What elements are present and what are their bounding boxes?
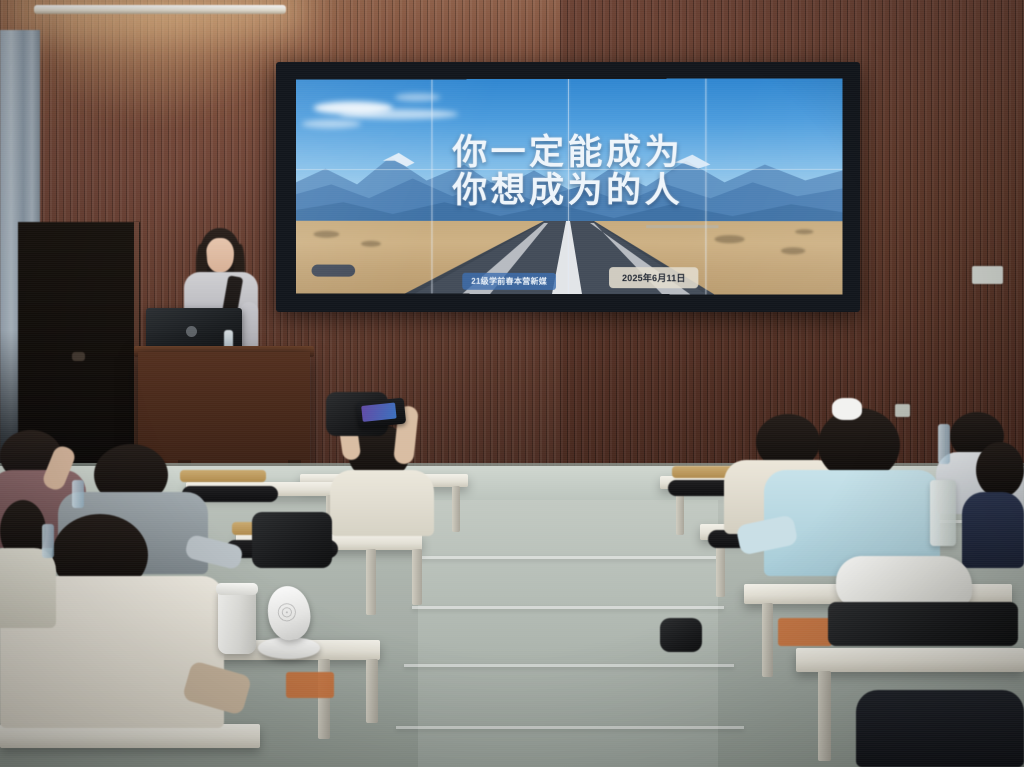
folded-jacket — [836, 556, 972, 608]
laptop-logo — [186, 326, 197, 337]
chair — [286, 672, 334, 698]
aisle-step — [396, 726, 744, 729]
cloud — [339, 109, 458, 119]
dark-bag — [660, 618, 702, 652]
slide-road — [296, 221, 843, 295]
wall-switch-plate — [972, 266, 1003, 284]
door-handle — [72, 352, 85, 361]
desk-leg — [452, 486, 460, 532]
desk-leg — [412, 549, 422, 605]
panel-seam-vertical — [431, 79, 432, 293]
fan-grill — [276, 599, 298, 626]
dark-bag — [828, 602, 1018, 646]
smartphone — [356, 398, 406, 429]
chair-seat — [180, 470, 266, 482]
ceiling-light-strip — [34, 5, 286, 14]
cup-lid — [216, 583, 258, 595]
water-bottle — [938, 424, 950, 464]
slide-badge-class: 21级学前春本营新媒 — [462, 273, 556, 290]
desk-leg — [762, 603, 773, 677]
aisle-step — [404, 664, 734, 667]
phone-screen — [361, 402, 396, 421]
desk-leg — [366, 549, 376, 615]
lecture-hall-photo: 你一定能成为 你想成为的人 21级学前春本营新媒 2025年6月11日 — [0, 0, 1024, 767]
water-bottle — [72, 480, 84, 508]
cloud — [395, 93, 441, 101]
student-torso — [962, 492, 1024, 568]
panel-seam-horizontal — [296, 169, 843, 170]
aisle-step — [418, 556, 718, 559]
video-wall-display: 你一定能成为 你想成为的人 21级学前春本营新媒 2025年6月11日 — [276, 62, 860, 312]
slide-headline-line2: 你想成为的人 — [296, 172, 843, 208]
slide-headline: 你一定能成为 你想成为的人 — [296, 135, 843, 209]
student-torso — [330, 470, 434, 536]
thermos-cup — [218, 588, 256, 654]
student-head — [976, 442, 1024, 498]
student-torso — [856, 690, 1024, 767]
student-torso — [0, 548, 56, 628]
desk — [796, 648, 1024, 672]
chair — [778, 618, 832, 646]
desk-leg — [366, 659, 378, 723]
hair-clip — [832, 398, 862, 420]
desk-fan-base — [258, 637, 320, 659]
aisle-step — [412, 606, 724, 609]
panel-seam-vertical — [568, 79, 569, 294]
ceiling-light-glow — [60, 0, 300, 120]
water-bottle — [42, 524, 54, 558]
wall-outlet-plate — [895, 404, 910, 417]
water-tumbler — [930, 480, 956, 546]
slide-badge-date: 2025年6月11日 — [609, 267, 699, 288]
desk-leg — [818, 671, 831, 761]
desk-leg — [318, 659, 330, 739]
presenter-face — [206, 238, 234, 273]
backpack — [252, 512, 332, 568]
video-wall-screen: 你一定能成为 你想成为的人 21级学前春本营新媒 2025年6月11日 — [296, 78, 843, 294]
panel-seam-vertical — [705, 79, 706, 295]
cloud — [302, 119, 361, 128]
